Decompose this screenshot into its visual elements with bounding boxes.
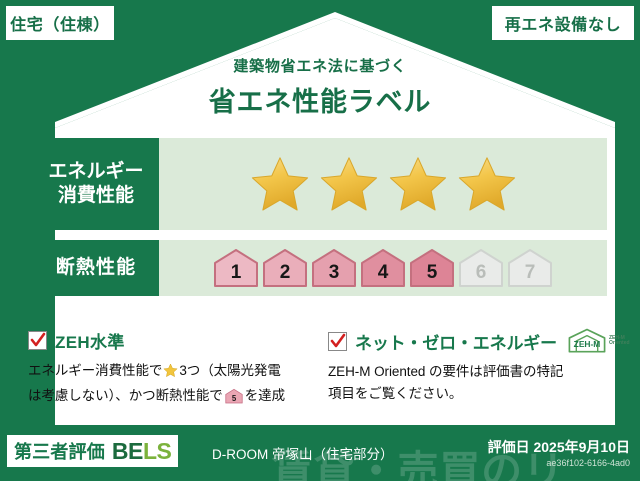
insulation-performance-body: 1234567 bbox=[159, 240, 607, 296]
net-zero-desc-line1: ZEH-M Oriented の要件は評価書の特記 bbox=[328, 364, 563, 379]
insulation-grade-tile: 4 bbox=[360, 248, 406, 288]
bels-mark-part1: BE bbox=[112, 438, 143, 464]
page-title-block: 建築物省エネ法に基づく 省エネ性能ラベル bbox=[0, 55, 640, 119]
insulation-grade-tile: 6 bbox=[458, 248, 504, 288]
badge-building-type-text: 住宅（住棟） bbox=[10, 11, 110, 35]
bels-mark: BELS bbox=[112, 438, 172, 465]
zeh-desc-part1: エネルギー消費性能で bbox=[28, 363, 162, 378]
insulation-grade-number: 2 bbox=[262, 262, 308, 284]
energy-head-line1: エネルギー bbox=[48, 160, 143, 184]
insulation-grade-number: 3 bbox=[311, 262, 357, 284]
claim-zeh-standard: ZEH水準 エネルギー消費性能で3つ（太陽光発電 は考慮しない）、かつ断熱性能で… bbox=[28, 328, 314, 411]
claim-zeh-standard-head: ZEH水準 bbox=[28, 328, 314, 353]
inline-star-icon bbox=[163, 366, 178, 381]
star-filled-icon bbox=[319, 155, 379, 213]
badge-renewable-equipment-text: 再エネ設備なし bbox=[505, 11, 621, 35]
insulation-performance-row: 断熱性能 1234567 bbox=[33, 240, 607, 296]
claim-net-zero-energy-description: ZEH-M Oriented の要件は評価書の特記 項目をご覧ください。 bbox=[328, 361, 614, 405]
energy-performance-label: 住宅（住棟） 再エネ設備なし 建築物省エネ法に基づく 省エネ性能ラベル エネルギ… bbox=[0, 0, 640, 481]
insulation-head-line1: 断熱性能 bbox=[56, 256, 137, 280]
document-id: ae36f102-6166-4ad0 bbox=[546, 458, 630, 468]
star-filled-icon bbox=[457, 155, 517, 213]
badge-building-type: 住宅（住棟） bbox=[6, 6, 114, 40]
checkbox-checked-icon bbox=[28, 331, 47, 350]
insulation-performance-label-head: 断熱性能 bbox=[33, 240, 159, 296]
zeh-desc-part3: は考慮しない）、かつ断熱性能で bbox=[28, 388, 223, 403]
inline-insulation-house-icon: 5 bbox=[225, 392, 243, 407]
claim-zeh-standard-title: ZEH水準 bbox=[55, 328, 125, 353]
insulation-grade-tile: 1 bbox=[213, 248, 259, 288]
insulation-grade-number: 1 bbox=[213, 262, 259, 284]
svg-text:5: 5 bbox=[232, 394, 237, 403]
bels-mark-part2: LS bbox=[143, 438, 171, 464]
zeh-desc-part2: 3つ（太陽光発電 bbox=[179, 363, 280, 378]
checkbox-checked-icon bbox=[328, 332, 347, 351]
badge-renewable-equipment: 再エネ設備なし bbox=[492, 6, 634, 40]
energy-performance-body bbox=[159, 138, 607, 230]
svg-text:ZEH-M: ZEH-M bbox=[574, 339, 601, 349]
star-rating bbox=[250, 155, 517, 213]
energy-head-line2: 消費性能 bbox=[58, 184, 134, 208]
claim-net-zero-energy-head: ネット・ゼロ・エネルギー ZEH-M ZEH-M Oriented bbox=[328, 328, 614, 354]
insulation-grade-tile: 2 bbox=[262, 248, 308, 288]
star-filled-icon bbox=[388, 155, 448, 213]
claim-net-zero-energy: ネット・ゼロ・エネルギー ZEH-M ZEH-M Oriented ZEH-M … bbox=[328, 328, 614, 405]
claim-net-zero-energy-title: ネット・ゼロ・エネルギー bbox=[355, 329, 557, 354]
insulation-grade-number: 5 bbox=[409, 262, 455, 284]
energy-performance-label-head: エネルギー 消費性能 bbox=[33, 138, 159, 230]
insulation-grade-scale: 1234567 bbox=[213, 248, 553, 288]
insulation-grade-number: 6 bbox=[458, 262, 504, 284]
zeh-m-logo-sub-line2: Oriented bbox=[609, 340, 630, 346]
bels-badge: 第三者評価 BELS bbox=[7, 435, 178, 467]
insulation-grade-tile: 3 bbox=[311, 248, 357, 288]
building-name: D-ROOM 帝塚山（住宅部分） bbox=[212, 443, 394, 463]
star-filled-icon bbox=[250, 155, 310, 213]
insulation-grade-tile: 5 bbox=[409, 248, 455, 288]
evaluation-date: 評価日 2025年9月10日 bbox=[488, 437, 630, 457]
zeh-desc-part4: を達成 bbox=[245, 388, 285, 403]
energy-performance-row: エネルギー 消費性能 bbox=[33, 138, 607, 230]
claim-zeh-standard-description: エネルギー消費性能で3つ（太陽光発電 は考慮しない）、かつ断熱性能で5を達成 bbox=[28, 360, 314, 411]
page-title: 省エネ性能ラベル bbox=[0, 80, 640, 119]
bels-badge-label: 第三者評価 bbox=[14, 438, 105, 464]
net-zero-desc-line2: 項目をご覧ください。 bbox=[328, 386, 462, 401]
insulation-grade-number: 4 bbox=[360, 262, 406, 284]
zeh-m-logo: ZEH-M ZEH-M Oriented bbox=[567, 328, 630, 354]
insulation-grade-tile: 7 bbox=[507, 248, 553, 288]
insulation-grade-number: 7 bbox=[507, 262, 553, 284]
footer-bar: 賃貸・売買のリ 第三者評価 BELS D-ROOM 帝塚山（住宅部分） 評価日 … bbox=[0, 429, 640, 481]
title-subtitle: 建築物省エネ法に基づく bbox=[0, 55, 640, 76]
